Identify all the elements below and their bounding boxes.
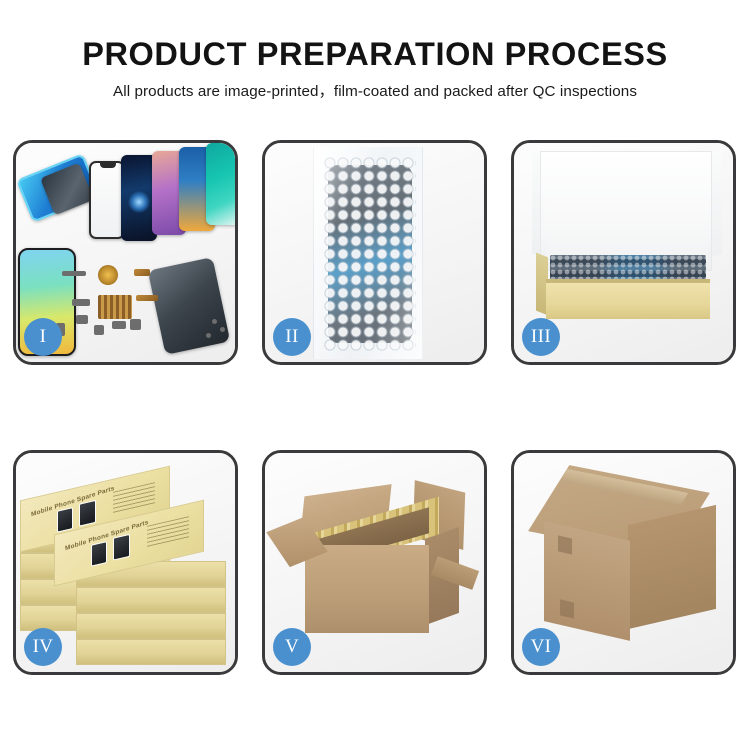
step-panel-phone-parts: I — [13, 140, 238, 365]
step-panel-open-carton: V — [262, 450, 487, 675]
step-badge-4: IV — [24, 628, 62, 666]
page-subtitle: All products are image-printed，film-coat… — [0, 82, 750, 102]
wireless-coil-part — [98, 265, 118, 285]
stacked-box-side — [76, 639, 226, 665]
carton-right-face — [628, 505, 716, 629]
product-preparation-infographic: PRODUCT PREPARATION PROCESS All products… — [0, 0, 750, 750]
screw-part — [212, 319, 217, 324]
logic-board-part — [98, 295, 132, 319]
foam-insert — [546, 201, 708, 263]
step-panel-bubble-wrap: II — [262, 140, 487, 365]
step-badge-2: II — [273, 318, 311, 356]
box-front-panel — [546, 283, 710, 319]
screw-part — [206, 333, 211, 338]
screw-part — [220, 327, 225, 332]
header: PRODUCT PREPARATION PROCESS All products… — [0, 34, 750, 102]
stacked-box-side — [76, 587, 226, 613]
carton-front-face — [544, 521, 630, 641]
flex-cable-part — [62, 271, 86, 276]
process-steps-grid: I II — [13, 140, 737, 685]
box-print-screen — [57, 507, 73, 533]
step-badge-5: V — [273, 628, 311, 666]
stacked-box-side — [76, 613, 226, 639]
step-badge-6: VI — [522, 628, 560, 666]
page-title: PRODUCT PREPARATION PROCESS — [0, 34, 750, 74]
box-print-textlines — [147, 516, 189, 548]
speaker-part — [94, 325, 104, 335]
carton-handle-notch — [558, 535, 572, 554]
step-panel-inner-box: III — [511, 140, 736, 365]
step-panel-sealed-carton: VI — [511, 450, 736, 675]
vibrator-part — [112, 321, 126, 329]
box-print-screen — [113, 534, 130, 561]
step-panel-stacked-boxes: Mobile Phone Spare Parts Mobile Phone Sp… — [13, 450, 238, 675]
box-print-textlines — [113, 482, 155, 514]
plastic-sheen — [313, 147, 423, 359]
phone-back-housing — [148, 257, 230, 355]
connector-part — [72, 299, 90, 306]
white-glass-panel — [89, 161, 125, 239]
camera-module-part — [76, 315, 88, 324]
step-badge-1: I — [24, 318, 62, 356]
box-print-screen — [79, 500, 96, 527]
small-chip-part — [134, 269, 150, 276]
carton-front-panel — [305, 545, 429, 633]
step-badge-3: III — [522, 318, 560, 356]
teal-gradient-phone — [206, 143, 238, 225]
carton-handle-notch — [560, 599, 574, 618]
battery-connector-part — [130, 319, 141, 330]
box-print-screen — [91, 541, 107, 567]
ribbon-cable-part — [136, 295, 158, 301]
